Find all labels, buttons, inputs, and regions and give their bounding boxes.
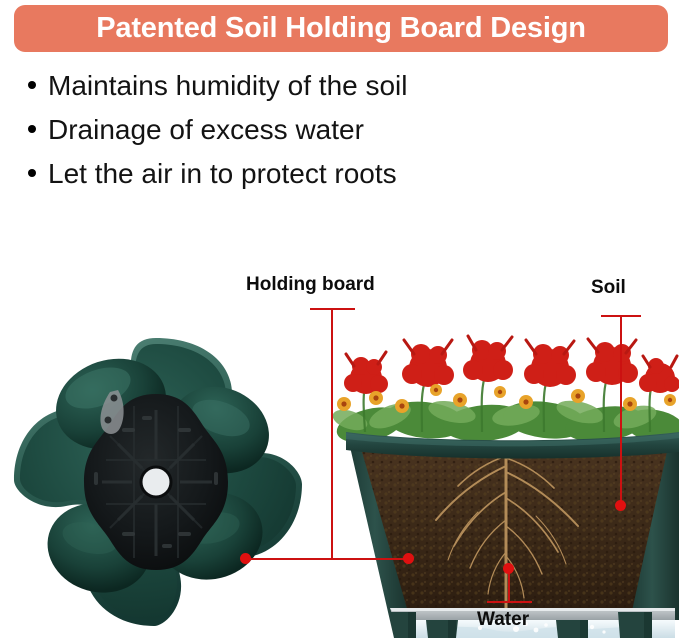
red-flowers bbox=[337, 336, 679, 413]
soil-leader-stem bbox=[620, 315, 622, 507]
list-item: Maintains humidity of the soil bbox=[28, 72, 628, 116]
water-marker-dot bbox=[503, 563, 514, 574]
header-banner: Patented Soil Holding Board Design bbox=[14, 5, 668, 52]
soil-holding-board-photo bbox=[6, 332, 306, 632]
feature-text: Maintains humidity of the soil bbox=[48, 72, 408, 100]
holding-board-leader-arm bbox=[246, 558, 410, 560]
feature-list: Maintains humidity of the soil Drainage … bbox=[28, 72, 628, 204]
holding-board-marker-dot-right bbox=[403, 553, 414, 564]
planter-cross-section bbox=[330, 320, 679, 638]
bullet-dot-icon bbox=[28, 81, 36, 89]
bullet-dot-icon bbox=[28, 169, 36, 177]
feature-text: Drainage of excess water bbox=[48, 116, 364, 144]
callout-label-water: Water bbox=[477, 610, 529, 629]
callout-label-soil: Soil bbox=[591, 278, 626, 297]
list-item: Drainage of excess water bbox=[28, 116, 628, 160]
callout-label-holding-board: Holding board bbox=[246, 275, 375, 294]
holding-board-leader-stem bbox=[331, 308, 333, 559]
feature-text: Let the air in to protect roots bbox=[48, 160, 397, 188]
holding-board-marker-dot-left bbox=[240, 553, 251, 564]
pot-body bbox=[348, 438, 679, 622]
soil-marker-dot bbox=[615, 500, 626, 511]
page-title: Patented Soil Holding Board Design bbox=[96, 14, 585, 43]
list-item: Let the air in to protect roots bbox=[28, 160, 628, 204]
bullet-dot-icon bbox=[28, 125, 36, 133]
